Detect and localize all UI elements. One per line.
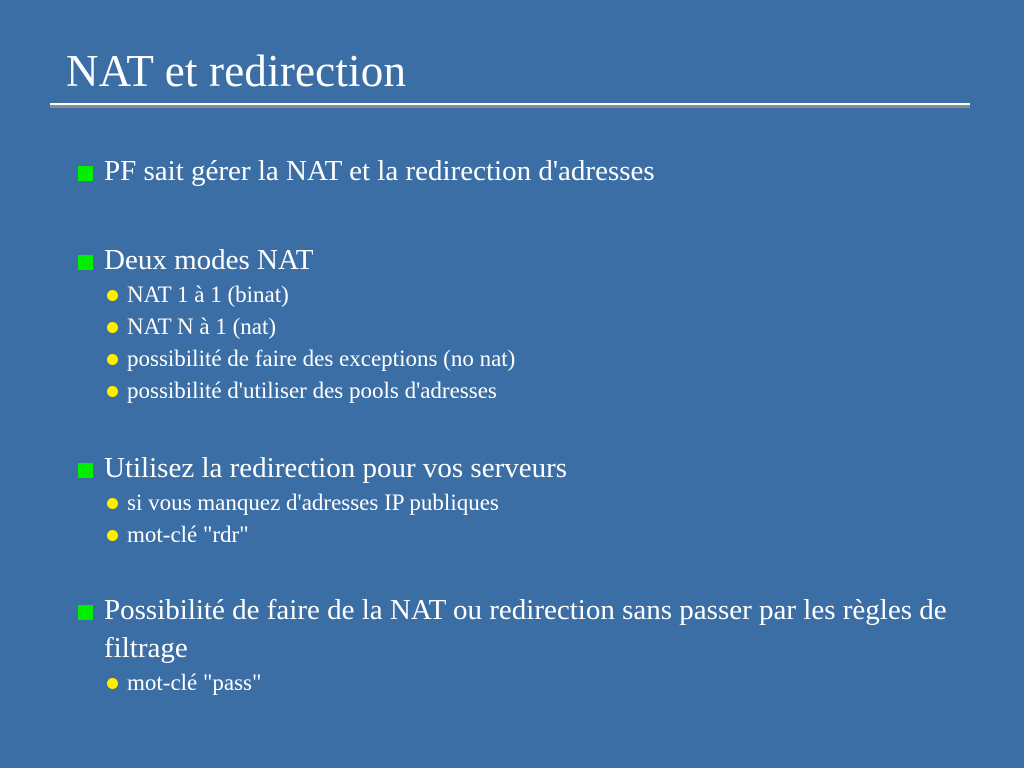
- dot-bullet-icon: [107, 290, 118, 301]
- bullet-item-level1: PF sait gérer la NAT et la redirection d…: [78, 152, 978, 190]
- dot-bullet-icon: [107, 678, 118, 689]
- square-bullet-icon: [78, 255, 93, 270]
- bullet-item-level1: Utilisez la redirection pour vos serveur…: [78, 449, 978, 487]
- dot-bullet-icon: [107, 530, 118, 541]
- title-underline-shadow: [50, 105, 970, 108]
- bullet-level1-label: PF sait gérer la NAT et la redirection d…: [104, 155, 655, 187]
- spacer: [78, 190, 978, 241]
- bullet-level2-label: mot-clé "pass": [127, 670, 261, 695]
- bullet-item-level1: Deux modes NAT: [78, 241, 978, 279]
- bullet-level2-label: mot-clé "rdr": [127, 522, 249, 547]
- sub-bullet-list: mot-clé "pass": [78, 667, 978, 699]
- bullet-item-level2: possibilité d'utiliser des pools d'adres…: [78, 375, 978, 407]
- dot-bullet-icon: [107, 354, 118, 365]
- bullet-item-level2: NAT N à 1 (nat): [78, 311, 978, 343]
- bullet-item-level2: possibilité de faire des exceptions (no …: [78, 343, 978, 375]
- spacer: [78, 407, 978, 449]
- bullet-item-level2: NAT 1 à 1 (binat): [78, 279, 978, 311]
- bullet-level2-label: NAT N à 1 (nat): [127, 314, 276, 339]
- dot-bullet-icon: [107, 386, 118, 397]
- sub-bullet-list: si vous manquez d'adresses IP publiques …: [78, 487, 978, 551]
- bullet-item-level2: mot-clé "pass": [78, 667, 978, 699]
- bullet-level2-label: possibilité de faire des exceptions (no …: [127, 346, 515, 371]
- slide-body: PF sait gérer la NAT et la redirection d…: [78, 152, 978, 699]
- bullet-level2-label: NAT 1 à 1 (binat): [127, 282, 289, 307]
- dot-bullet-icon: [107, 322, 118, 333]
- square-bullet-icon: [78, 605, 93, 620]
- bullet-level1-label: Possibilité de faire de la NAT ou redire…: [104, 594, 947, 664]
- square-bullet-icon: [78, 463, 93, 478]
- page-title: NAT et redirection: [50, 44, 974, 98]
- bullet-item-level2: mot-clé "rdr": [78, 519, 978, 551]
- bullet-level1-label: Deux modes NAT: [104, 244, 313, 276]
- sub-bullet-list: NAT 1 à 1 (binat) NAT N à 1 (nat) possib…: [78, 279, 978, 407]
- bullet-item-level1: Possibilité de faire de la NAT ou redire…: [78, 591, 978, 667]
- dot-bullet-icon: [107, 498, 118, 509]
- bullet-level2-label: possibilité d'utiliser des pools d'adres…: [127, 378, 497, 403]
- bullet-item-level2: si vous manquez d'adresses IP publiques: [78, 487, 978, 519]
- bullet-level2-label: si vous manquez d'adresses IP publiques: [127, 490, 499, 515]
- spacer: [78, 551, 978, 591]
- square-bullet-icon: [78, 166, 93, 181]
- slide-title-block: NAT et redirection: [50, 44, 974, 108]
- bullet-level1-label: Utilisez la redirection pour vos serveur…: [104, 452, 567, 484]
- presentation-slide: NAT et redirection PF sait gérer la NAT …: [0, 0, 1024, 768]
